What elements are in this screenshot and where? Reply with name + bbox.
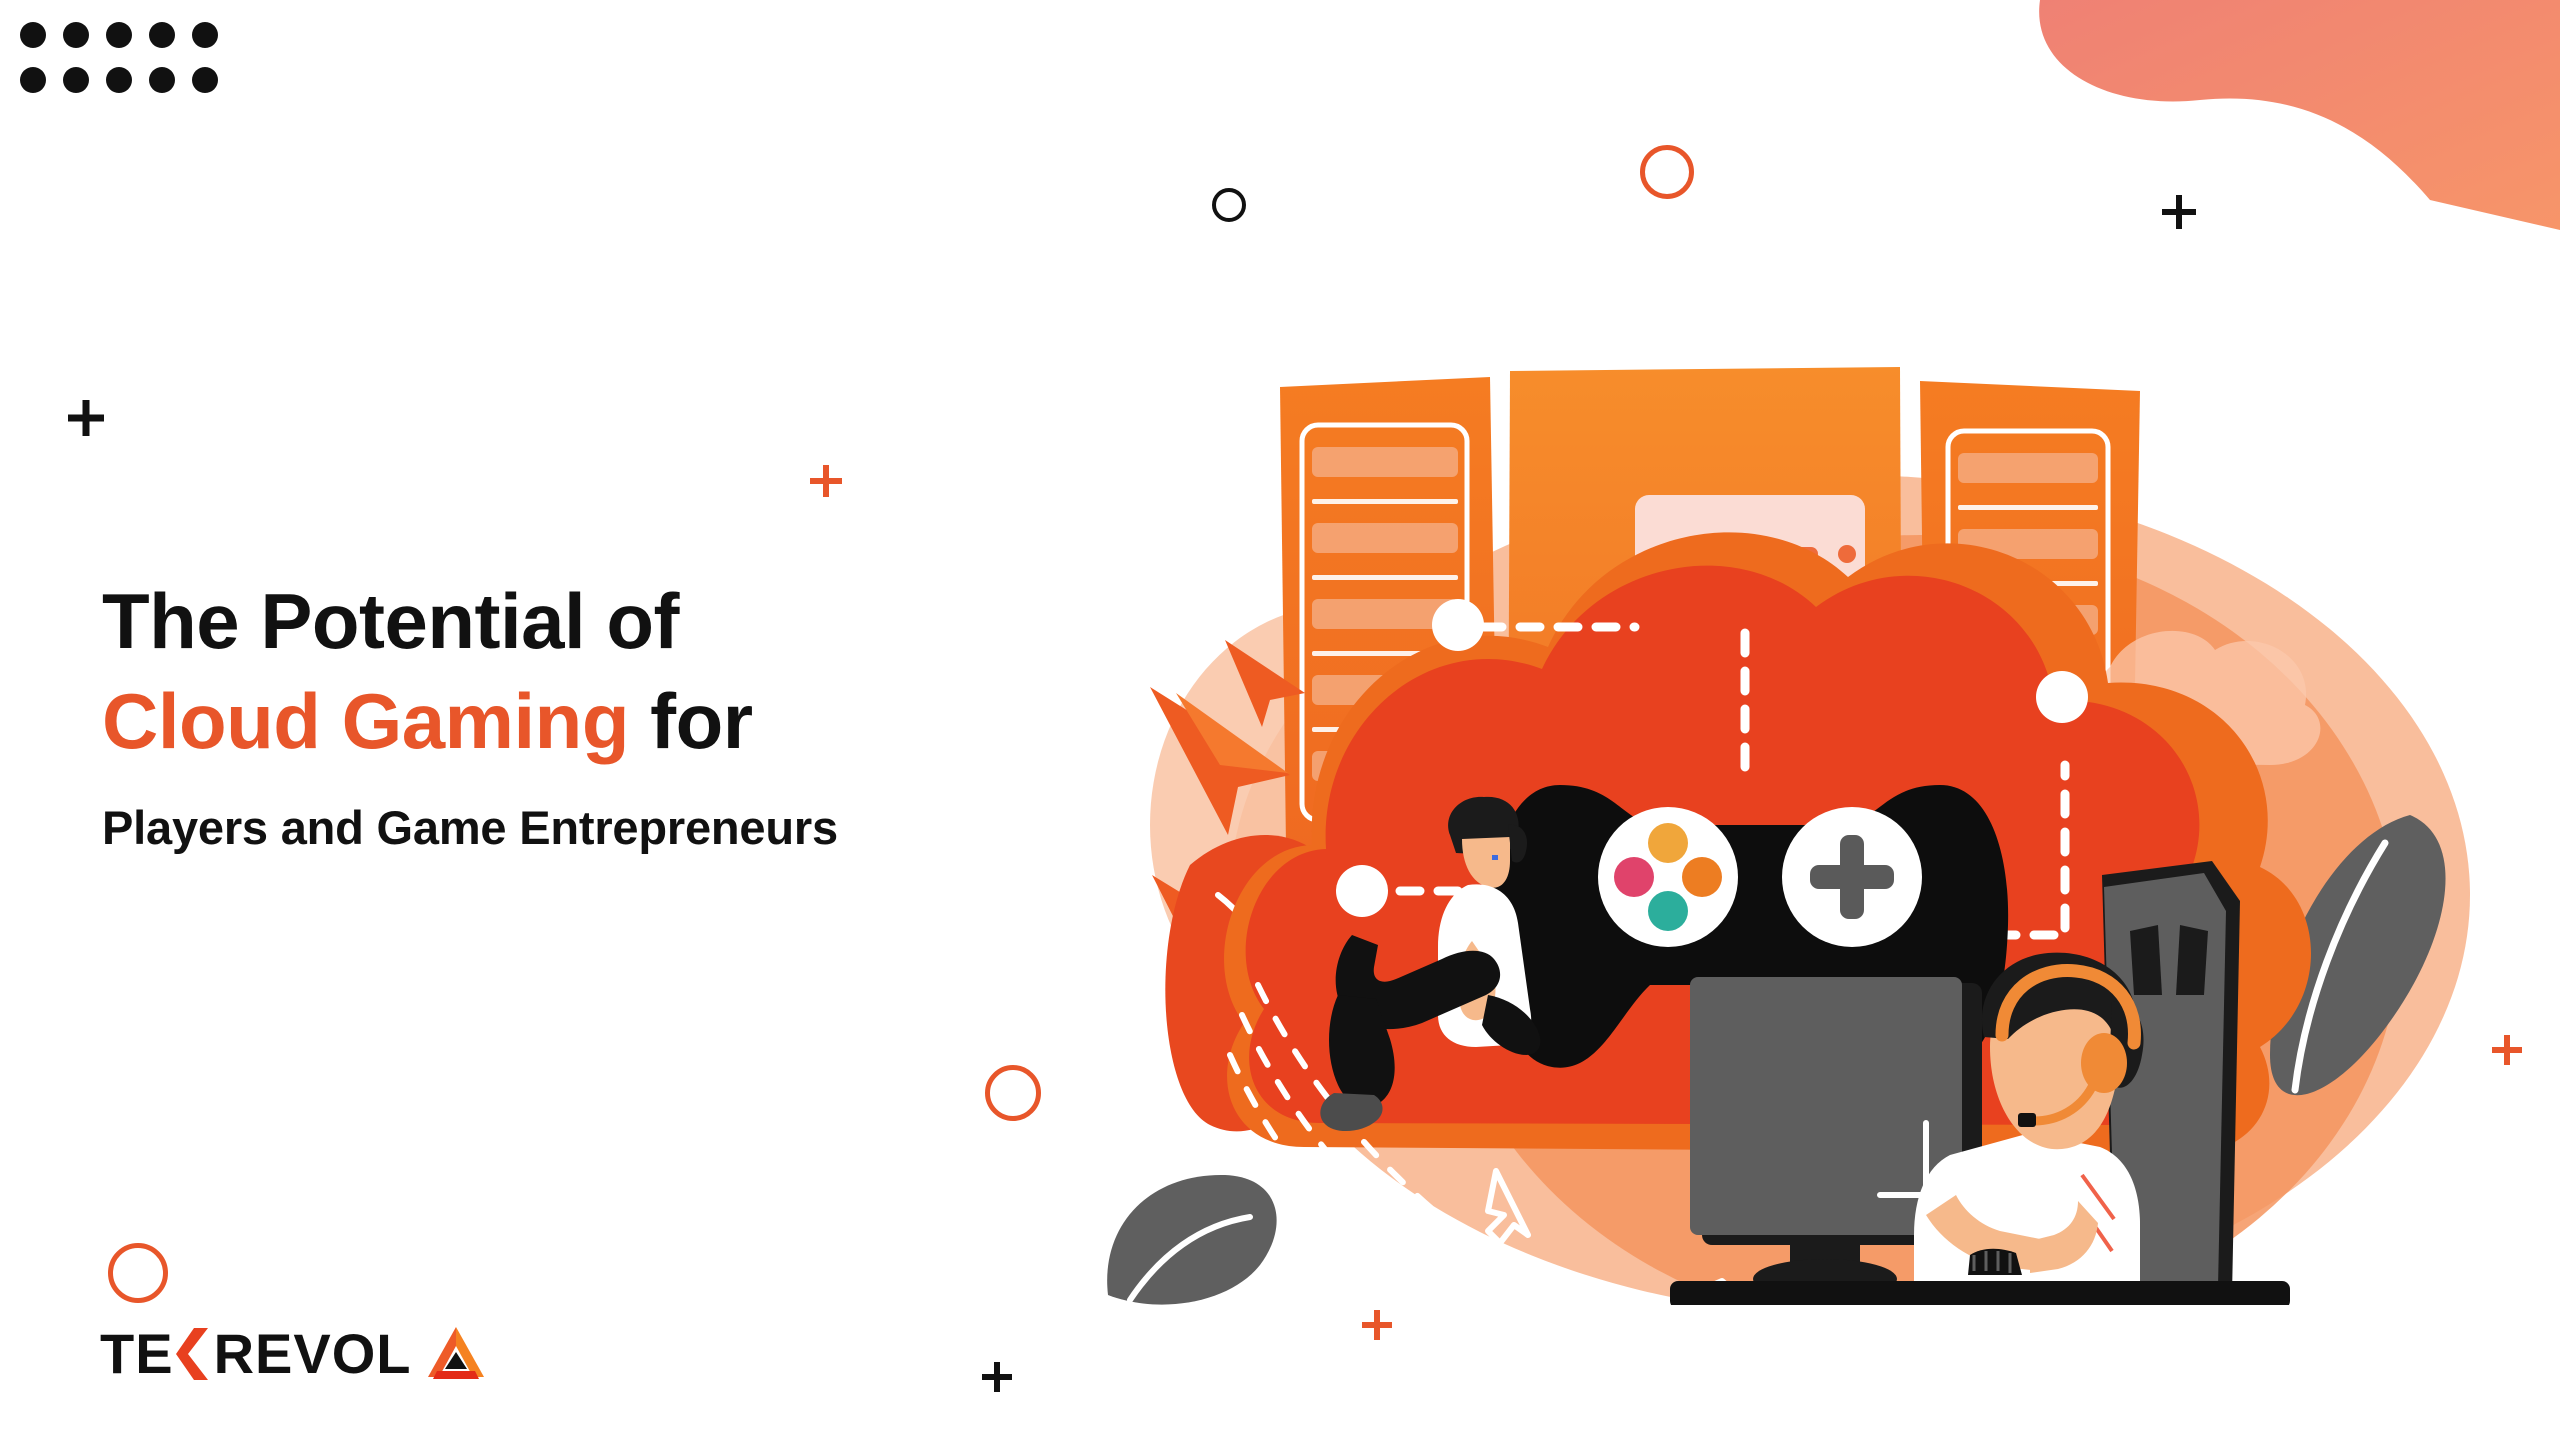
ring-black-small-top <box>1212 188 1246 222</box>
grid-dot <box>63 67 89 93</box>
plus-mark-orange-upper <box>810 465 842 497</box>
headline-line-3: Players and Game Entrepreneurs <box>102 798 1142 858</box>
plus-mark-orange-bottom <box>1362 1310 1392 1340</box>
grid-dot <box>106 67 132 93</box>
ring-orange-top <box>1640 145 1694 199</box>
headline-line-2-tail: for <box>629 677 753 765</box>
grid-dot <box>192 22 218 48</box>
grid-dot <box>63 22 89 48</box>
headline-line-2: Cloud Gaming for <box>102 672 1142 772</box>
grid-dot <box>192 67 218 93</box>
logo-word-part2: REVOL <box>214 1326 412 1382</box>
grid-dot <box>149 67 175 93</box>
page-title: The Potential of Cloud Gaming for Player… <box>102 572 1142 858</box>
ring-orange-lower-left <box>108 1243 168 1303</box>
tekrevol-logo[interactable]: TE REVOL <box>100 1325 487 1383</box>
banner-canvas: The Potential of Cloud Gaming for Player… <box>0 0 2560 1444</box>
headline-accent-text: Cloud Gaming <box>102 677 629 765</box>
plus-mark-black-top-right <box>2162 195 2196 229</box>
grid-dot <box>20 67 46 93</box>
grid-dot <box>149 22 175 48</box>
corner-wave-blob <box>2000 0 2560 230</box>
dot-grid <box>20 22 235 112</box>
grid-dot <box>106 22 132 48</box>
tekrevol-triangle-mark-icon <box>425 1325 487 1383</box>
logo-wordmark: TE REVOL <box>100 1326 411 1382</box>
plus-mark-black-left <box>68 400 104 436</box>
headline-line-1: The Potential of <box>102 572 1142 672</box>
cloud-gaming-illustration <box>1090 295 2560 1305</box>
logo-word-part1: TE <box>100 1326 174 1382</box>
ring-orange-mid <box>985 1065 1041 1121</box>
logo-chevron-icon <box>174 1326 214 1382</box>
grid-dot <box>20 22 46 48</box>
plus-mark-black-bottom <box>982 1362 1012 1392</box>
